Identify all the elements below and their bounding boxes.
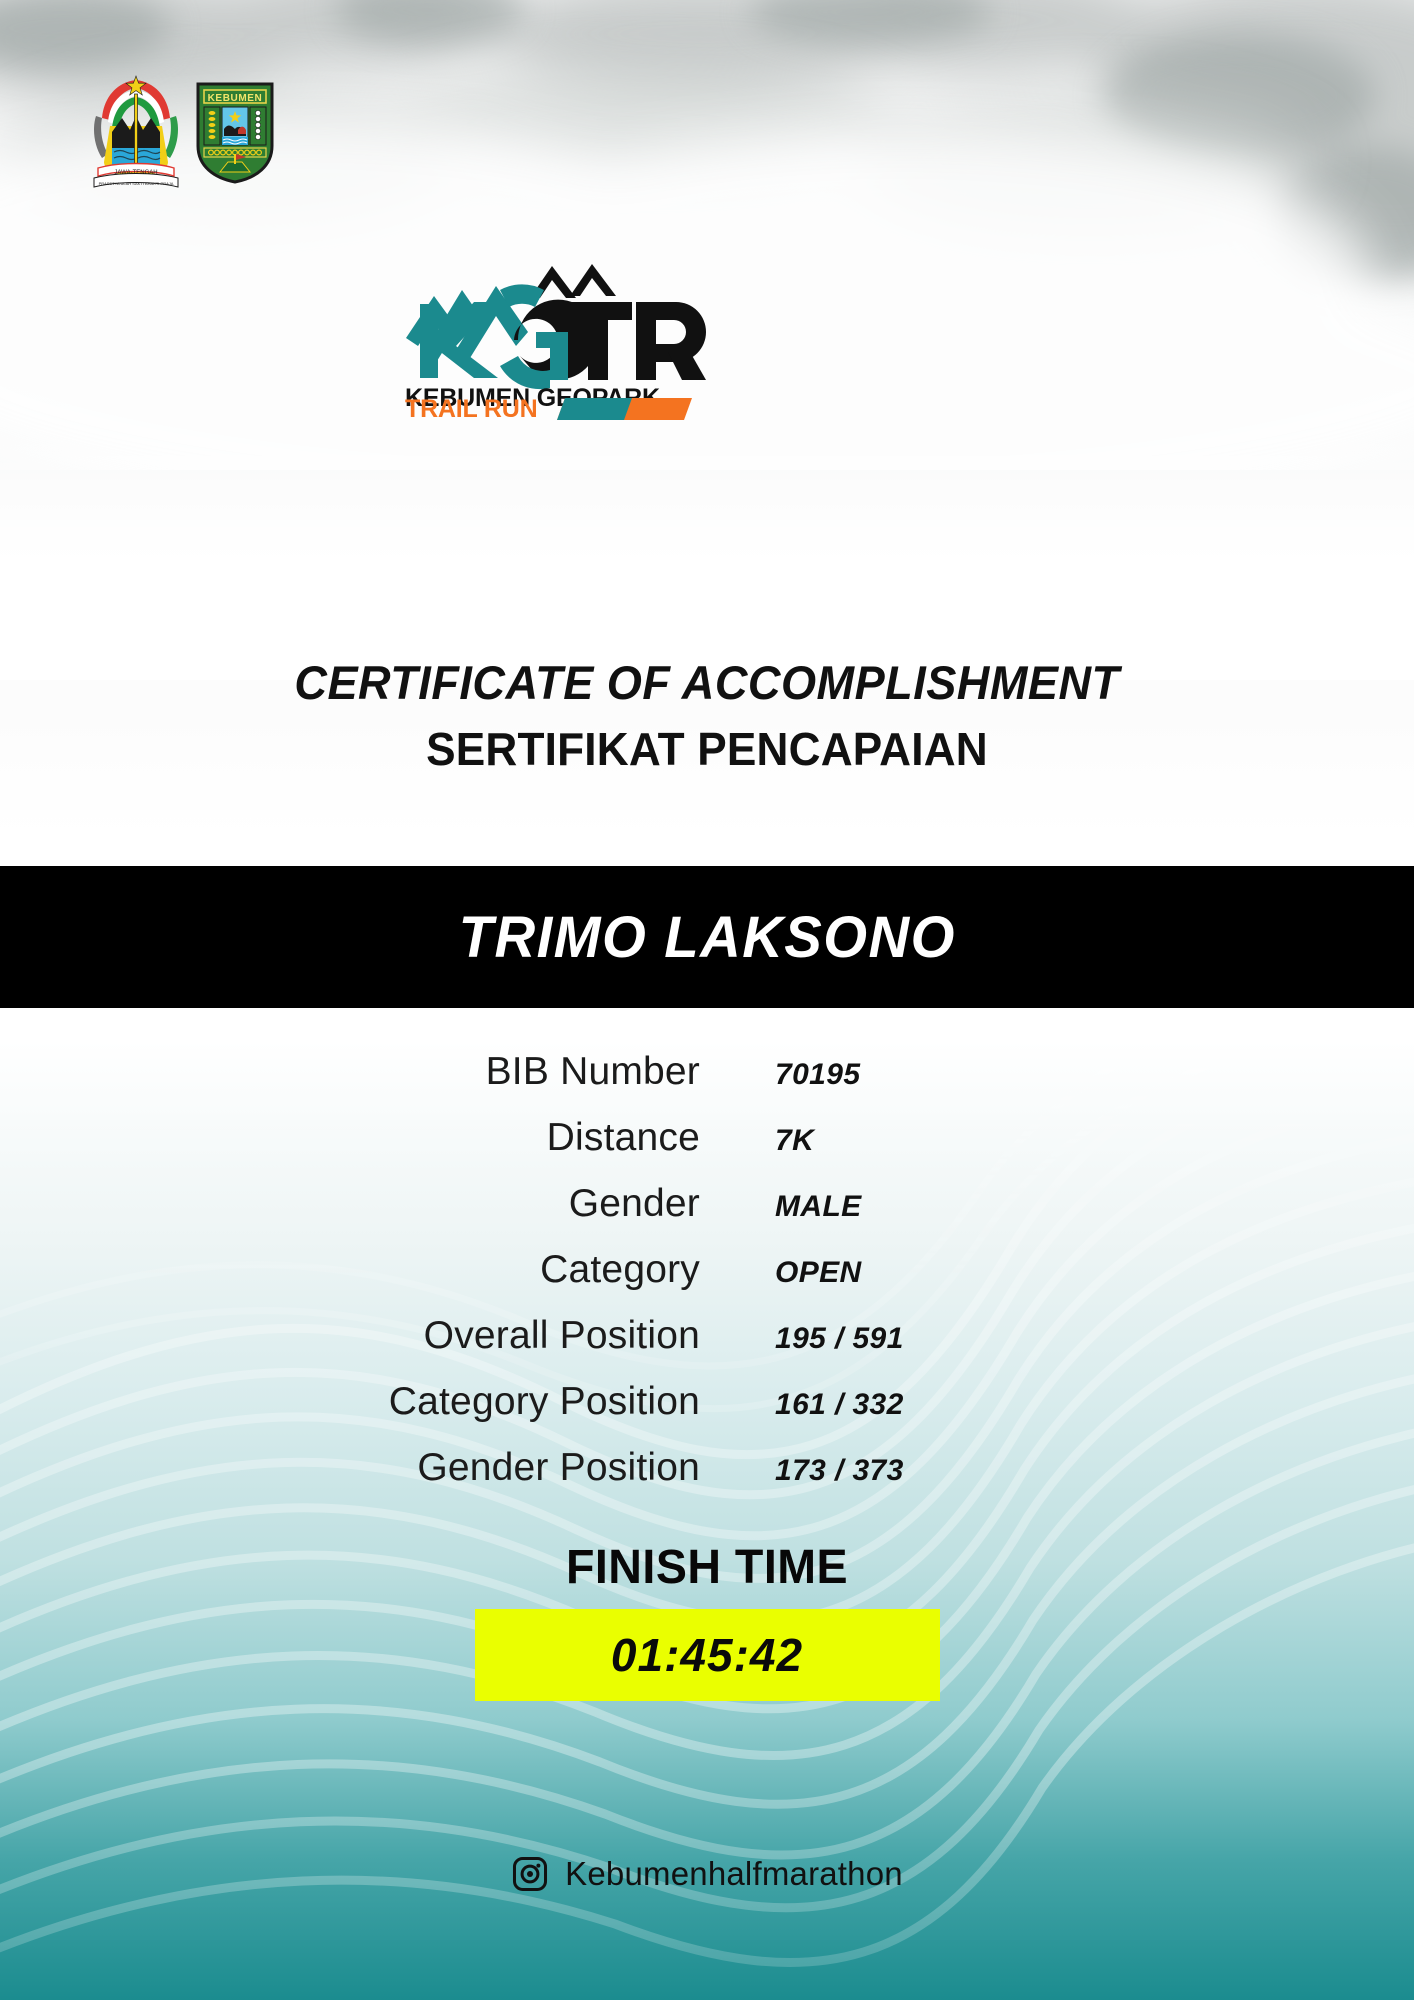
official-emblems: JAWA-TENGAH PRASETYA ULAH SAKTI BHAKTI P…	[88, 70, 288, 190]
detail-label: Distance	[0, 1116, 700, 1160]
instagram-handle: Kebumenhalfmarathon	[565, 1855, 903, 1893]
kgtr-logo: KEBUMEN GEOPARK	[400, 228, 710, 418]
detail-value: 195 / 591	[775, 1322, 904, 1356]
finish-time-highlight: 01:45:42	[475, 1609, 940, 1701]
title-indonesian: SERTIFIKAT PENCAPAIAN	[28, 722, 1385, 777]
finish-time-section: FINISH TIME 01:45:42	[0, 1540, 1414, 1701]
social-footer: Kebumenhalfmarathon	[0, 1855, 1414, 1893]
svg-text:KEBUMEN: KEBUMEN	[208, 93, 263, 104]
svg-text:PRASETYA ULAH SAKTI BHAKTI PRA: PRASETYA ULAH SAKTI BHAKTI PRAJA	[99, 181, 174, 186]
detail-value: 70195	[775, 1058, 860, 1092]
detail-row: Overall Position 195 / 591	[0, 1314, 1414, 1380]
detail-label: Gender Position	[0, 1446, 700, 1490]
kgtr-logo-subline: TRAIL RUN	[400, 392, 710, 426]
runner-name-banner: TRIMO LAKSONO	[0, 866, 1414, 1008]
finish-time-value: 01:45:42	[611, 1628, 803, 1682]
detail-value: MALE	[775, 1190, 862, 1224]
detail-value: 161 / 332	[775, 1388, 904, 1422]
detail-row: Distance 7K	[0, 1116, 1414, 1182]
instagram-icon	[511, 1855, 549, 1893]
kebumen-emblem: KEBUMEN	[194, 80, 276, 185]
detail-row: Category Position 161 / 332	[0, 1380, 1414, 1446]
finish-time-label: FINISH TIME	[21, 1540, 1393, 1595]
detail-label: Overall Position	[0, 1314, 700, 1358]
detail-label: Gender	[0, 1182, 700, 1226]
detail-label: BIB Number	[0, 1050, 700, 1094]
detail-row: Category OPEN	[0, 1248, 1414, 1314]
detail-row: Gender MALE	[0, 1182, 1414, 1248]
detail-value: 7K	[775, 1124, 814, 1158]
detail-value: OPEN	[775, 1256, 862, 1290]
title-english: CERTIFICATE OF ACCOMPLISHMENT	[28, 655, 1385, 710]
logo-line2: TRAIL RUN	[405, 395, 537, 423]
detail-row: Gender Position 173 / 373	[0, 1446, 1414, 1512]
detail-row: BIB Number 70195	[0, 1050, 1414, 1116]
result-details-table: BIB Number 70195 Distance 7K Gender MALE…	[0, 1050, 1414, 1512]
detail-value: 173 / 373	[775, 1454, 904, 1488]
certificate-titles: CERTIFICATE OF ACCOMPLISHMENT SERTIFIKAT…	[0, 655, 1414, 778]
top-fade-overlay	[0, 420, 1414, 680]
runner-name: TRIMO LAKSONO	[458, 904, 955, 971]
detail-label: Category	[0, 1248, 700, 1292]
detail-label: Category Position	[0, 1380, 700, 1424]
jawa-tengah-emblem: JAWA-TENGAH PRASETYA ULAH SAKTI BHAKTI P…	[88, 70, 184, 190]
